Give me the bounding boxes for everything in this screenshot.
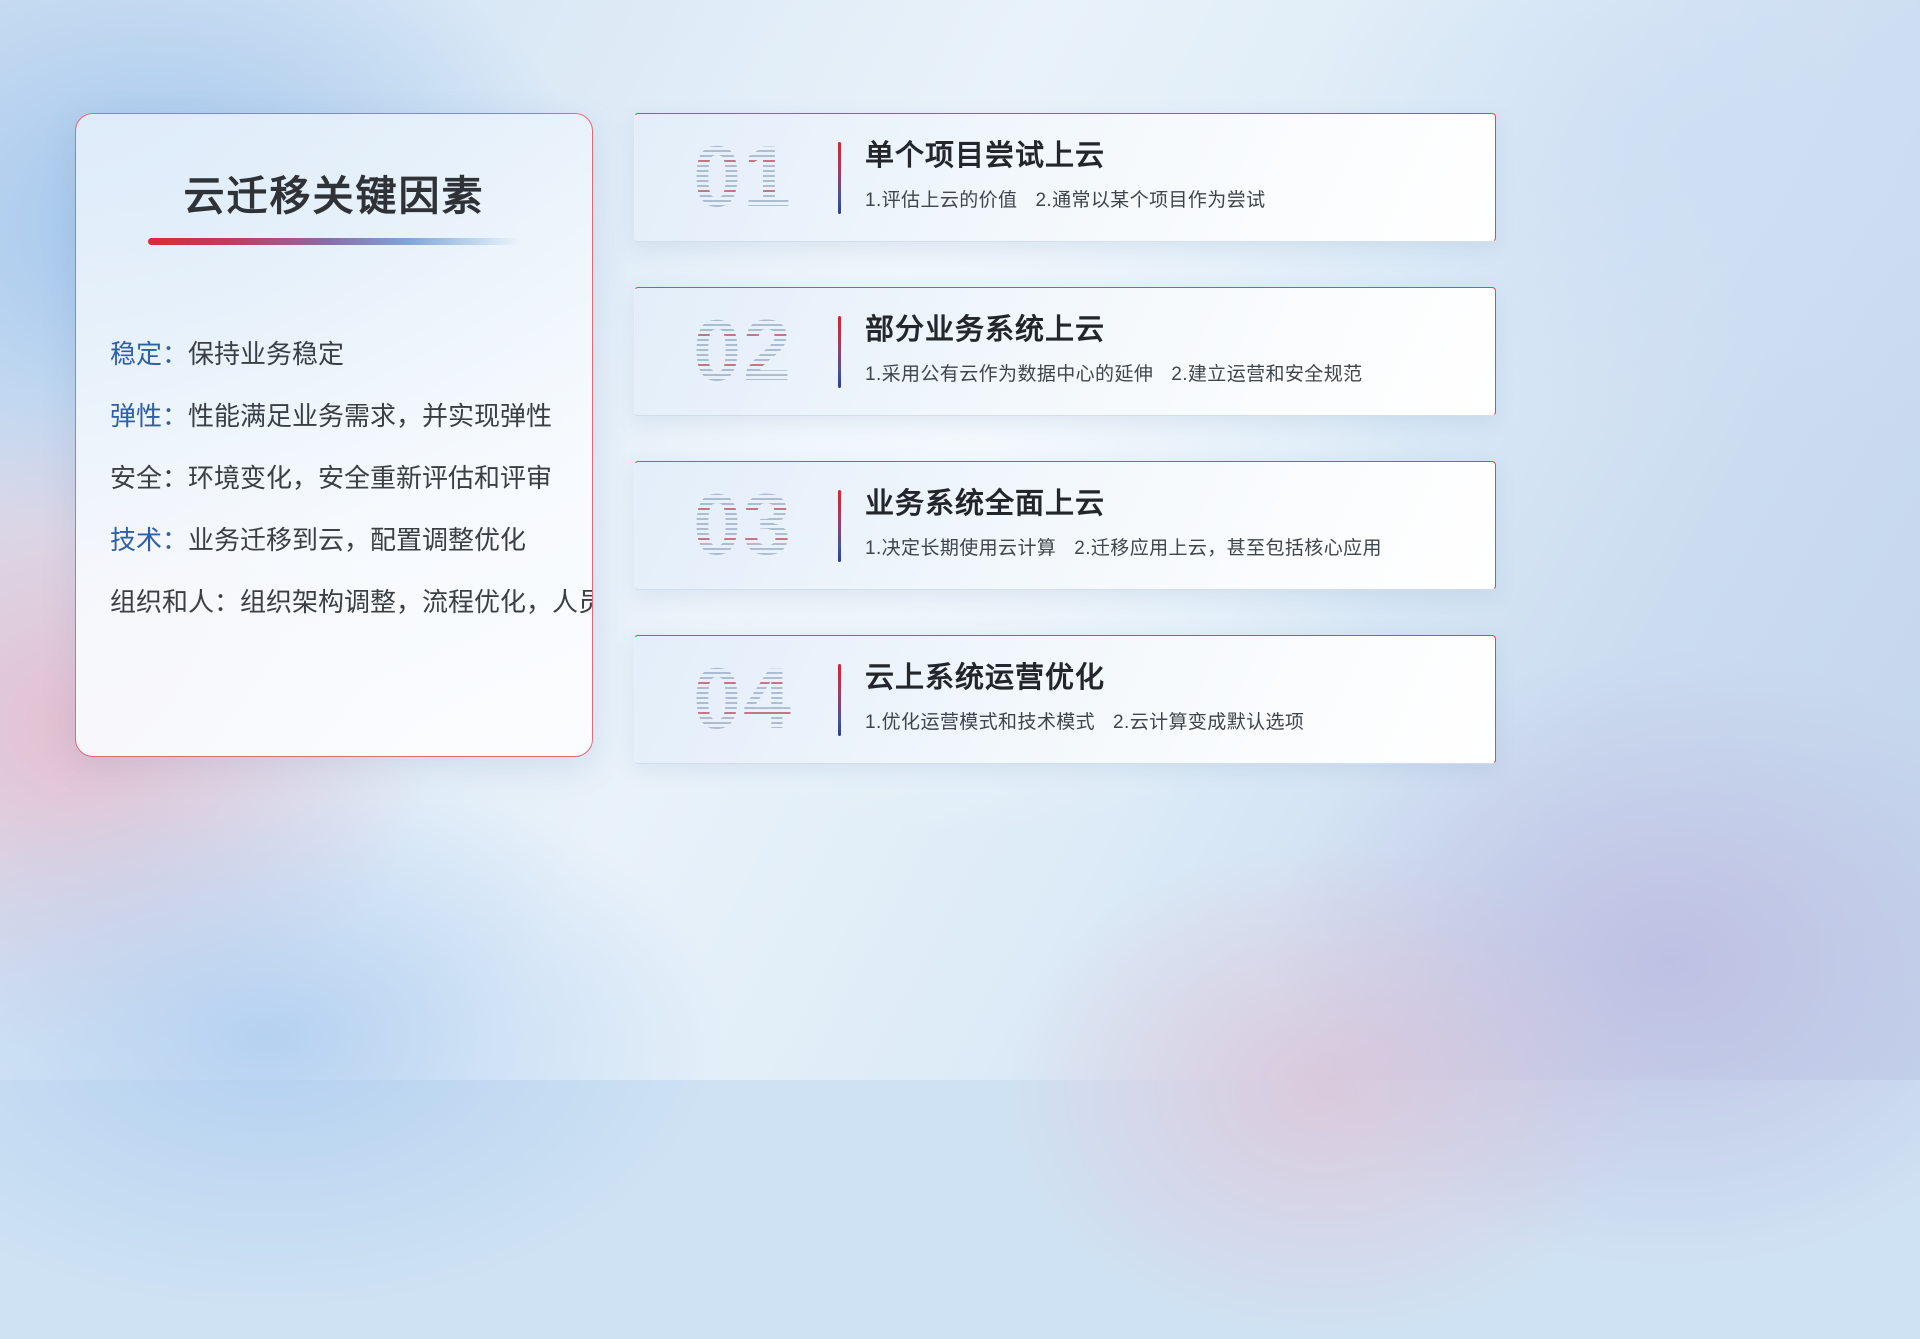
card-description: 1.优化运营模式和技术模式2.云计算变成默认选项 (865, 710, 1471, 736)
list-item-label: 组织和人： (110, 587, 240, 617)
card-divider-bar (838, 490, 841, 562)
page-title: 云迁移关键因素 (76, 162, 592, 222)
card-description-part-2: 2.云计算变成默认选项 (1113, 712, 1304, 733)
card-description: 1.采用公有云作为数据中心的延伸2.建立运营和安全规范 (865, 362, 1471, 388)
stage-number-02: 02 (663, 304, 823, 400)
card-divider-bar (838, 316, 841, 388)
stage-card-02[interactable]: 02 02 部分业务系统上云 1.采用公有云作为数据中心的延伸2.建立运营和安全… (634, 287, 1496, 416)
list-item-text: 组织架构调整，流程优化，人员技能培训 (240, 587, 593, 617)
card-description-part-1: 1.采用公有云作为数据中心的延伸 (865, 364, 1153, 385)
card-description-part-2: 2.通常以某个项目作为尝试 (1035, 190, 1265, 211)
card-divider-bar (838, 664, 841, 736)
card-description-part-2: 2.迁移应用上云，甚至包括核心应用 (1074, 538, 1382, 559)
card-body: 部分业务系统上云 1.采用公有云作为数据中心的延伸2.建立运营和安全规范 (865, 310, 1471, 388)
title-underline-gradient (148, 238, 520, 245)
list-item: 组织和人：组织架构调整，流程优化，人员技能培训 (110, 571, 592, 633)
list-item-label: 稳定： (110, 339, 188, 369)
card-description-part-1: 1.评估上云的价值 (865, 190, 1017, 211)
stage-number-03: 03 (663, 478, 823, 574)
list-item-text: 业务迁移到云，配置调整优化 (188, 525, 526, 555)
card-description-part-1: 1.决定长期使用云计算 (865, 538, 1056, 559)
stage-card-03[interactable]: 03 03 业务系统全面上云 1.决定长期使用云计算2.迁移应用上云，甚至包括核… (634, 461, 1496, 590)
list-item: 弹性：性能满足业务需求，并实现弹性 (110, 385, 592, 447)
key-factors-list: 稳定：保持业务稳定 弹性：性能满足业务需求，并实现弹性 安全：环境变化，安全重新… (76, 323, 592, 633)
list-item: 安全：环境变化，安全重新评估和评审 (110, 447, 592, 509)
card-description-part-2: 2.建立运营和安全规范 (1171, 364, 1362, 385)
card-description: 1.评估上云的价值2.通常以某个项目作为尝试 (865, 188, 1471, 214)
list-item-text: 环境变化，安全重新评估和评审 (188, 463, 552, 493)
key-factors-panel: 云迁移关键因素 稳定：保持业务稳定 弹性：性能满足业务需求，并实现弹性 安全：环… (75, 113, 593, 757)
list-item-label: 弹性： (110, 401, 188, 431)
card-body: 单个项目尝试上云 1.评估上云的价值2.通常以某个项目作为尝试 (865, 136, 1471, 214)
card-divider-bar (838, 142, 841, 214)
list-item-text: 保持业务稳定 (188, 339, 344, 369)
card-body: 业务系统全面上云 1.决定长期使用云计算2.迁移应用上云，甚至包括核心应用 (865, 484, 1471, 562)
stage-card-04[interactable]: 04 04 云上系统运营优化 1.优化运营模式和技术模式2.云计算变成默认选项 (634, 635, 1496, 764)
card-title: 单个项目尝试上云 (865, 136, 1471, 176)
card-description: 1.决定长期使用云计算2.迁移应用上云，甚至包括核心应用 (865, 536, 1471, 562)
card-title: 业务系统全面上云 (865, 484, 1471, 524)
stage-cards-list: 01 01 单个项目尝试上云 1.评估上云的价值2.通常以某个项目作为尝试 02… (634, 113, 1496, 764)
card-title: 部分业务系统上云 (865, 310, 1471, 350)
list-item-label: 安全： (110, 463, 188, 493)
list-item-text: 性能满足业务需求，并实现弹性 (188, 401, 552, 431)
stage-number-01: 01 (663, 130, 823, 226)
slide-stage: 云迁移关键因素 稳定：保持业务稳定 弹性：性能满足业务需求，并实现弹性 安全：环… (0, 0, 1920, 1080)
card-title: 云上系统运营优化 (865, 658, 1471, 698)
stage-number-04: 04 (663, 652, 823, 748)
list-item-label: 技术： (110, 525, 188, 555)
list-item: 稳定：保持业务稳定 (110, 323, 592, 385)
stage-card-01[interactable]: 01 01 单个项目尝试上云 1.评估上云的价值2.通常以某个项目作为尝试 (634, 113, 1496, 242)
card-body: 云上系统运营优化 1.优化运营模式和技术模式2.云计算变成默认选项 (865, 658, 1471, 736)
list-item: 技术：业务迁移到云，配置调整优化 (110, 509, 592, 571)
card-description-part-1: 1.优化运营模式和技术模式 (865, 712, 1095, 733)
